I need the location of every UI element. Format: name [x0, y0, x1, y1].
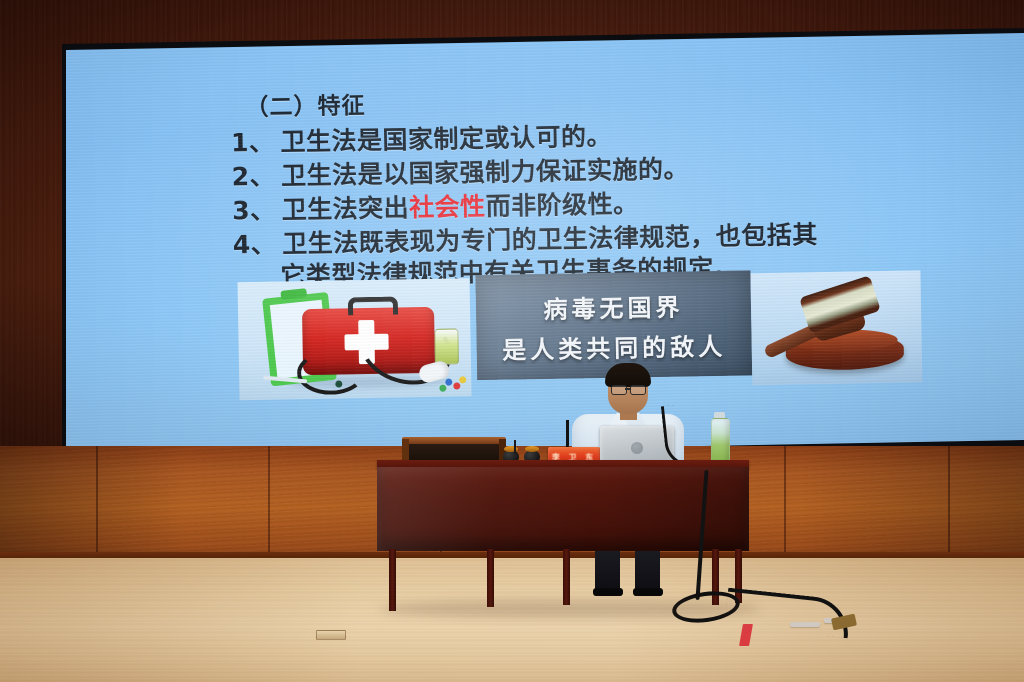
shoe-left: [593, 588, 623, 596]
speaker-hair: [605, 363, 651, 387]
laptop-logo-icon: [631, 442, 643, 454]
table-leg: [487, 549, 494, 607]
table-front-panel: [377, 467, 749, 551]
lecture-hall-scene: （二）特征 1、卫生法是国家制定或认可的。 2、卫生法是以国家强制力保证实施的。…: [0, 0, 1024, 682]
floor-outlet-hatch: [316, 630, 346, 640]
glasses-bridge: [625, 388, 631, 390]
screen-vignette: [50, 28, 1024, 472]
microphone-stem: [514, 440, 516, 454]
table-floor-shadow: [380, 600, 760, 618]
microphone-ring: [525, 446, 539, 452]
shoe-right: [633, 588, 663, 596]
glasses-icon: [611, 385, 627, 395]
panel-seam: [948, 446, 950, 564]
stage-floor: [0, 558, 1024, 682]
slide-surface: （二）特征 1、卫生法是国家制定或认可的。 2、卫生法是以国家强制力保证实施的。…: [50, 28, 1024, 472]
panel-seam: [268, 446, 270, 564]
panel-seam: [784, 446, 786, 564]
table-leg: [389, 549, 396, 611]
projection-screen: （二）特征 1、卫生法是国家制定或认可的。 2、卫生法是以国家强制力保证实施的。…: [50, 28, 1024, 472]
leg-left: [595, 548, 620, 592]
panel-seam: [96, 446, 98, 564]
glasses-icon: [630, 385, 646, 395]
speaker-legs: [595, 548, 665, 598]
leg-right: [635, 548, 660, 592]
table-leg: [563, 549, 570, 605]
